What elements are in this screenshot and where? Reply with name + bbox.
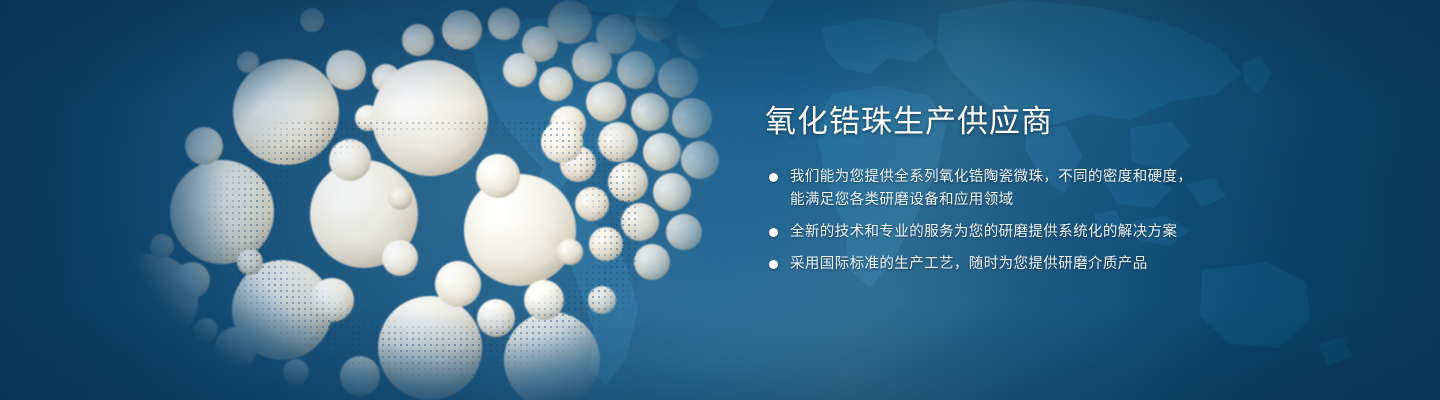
feature-text-line-1: 采用国际标准的生产工艺，随时为您提供研磨介质产品 — [790, 256, 1148, 272]
bullet-dot-icon — [769, 260, 778, 269]
feature-list-item: 全新的技术和专业的服务为您的研磨提供系统化的解决方案 — [765, 221, 1385, 244]
feature-text-line-1: 全新的技术和专业的服务为您的研磨提供系统化的解决方案 — [790, 224, 1177, 240]
feature-text-line-2: 能满足您各类研磨设备和应用领域 — [790, 189, 1385, 212]
hero-banner: 氧化锆珠生产供应商 我们能为您提供全系列氧化锆陶瓷微珠，不同的密度和硬度， 能满… — [0, 0, 1440, 400]
feature-list-item: 采用国际标准的生产工艺，随时为您提供研磨介质产品 — [765, 253, 1385, 276]
feature-text-line-1: 我们能为您提供全系列氧化锆陶瓷微珠，不同的密度和硬度， — [790, 169, 1192, 185]
bullet-dot-icon — [769, 228, 778, 237]
bullet-dot-icon — [769, 173, 778, 182]
feature-list-item: 我们能为您提供全系列氧化锆陶瓷微珠，不同的密度和硬度， 能满足您各类研磨设备和应… — [765, 166, 1385, 212]
banner-headline: 氧化锆珠生产供应商 — [765, 104, 1385, 140]
banner-copy: 氧化锆珠生产供应商 我们能为您提供全系列氧化锆陶瓷微珠，不同的密度和硬度， 能满… — [765, 104, 1385, 276]
banner-feature-list: 我们能为您提供全系列氧化锆陶瓷微珠，不同的密度和硬度， 能满足您各类研磨设备和应… — [765, 166, 1385, 276]
